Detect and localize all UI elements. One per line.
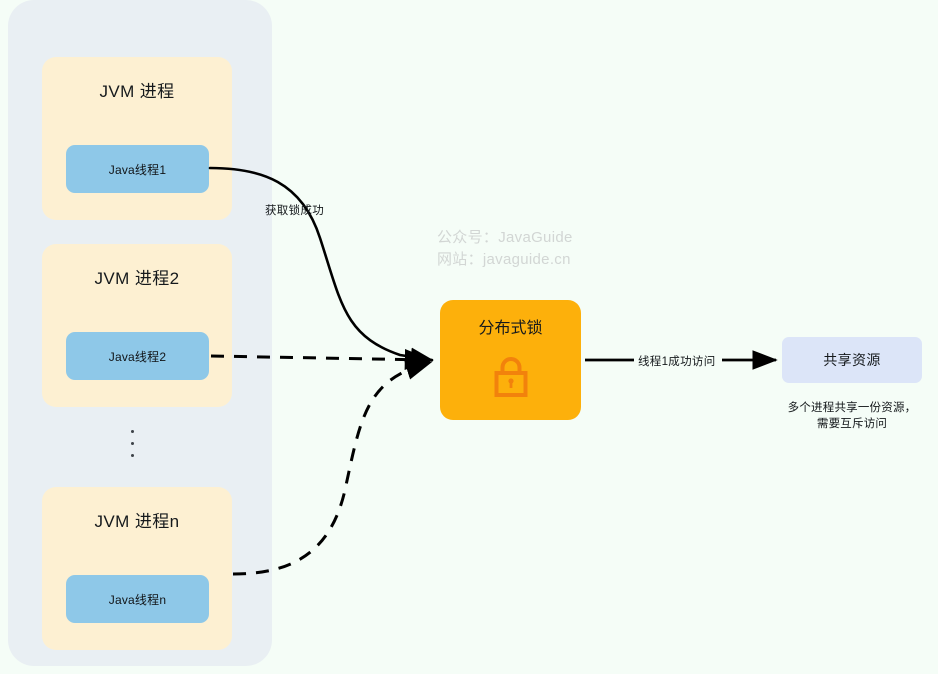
lock-icon bbox=[489, 356, 533, 400]
process-card-1[interactable]: JVM 进程 Java线程1 bbox=[42, 57, 232, 220]
thread-label-2: Java线程2 bbox=[109, 348, 166, 365]
thread-box-2[interactable]: Java线程2 bbox=[66, 332, 209, 380]
watermark: 公众号：JavaGuide 网站：javaguide.cn bbox=[437, 227, 573, 271]
watermark-line-1: 公众号：JavaGuide bbox=[437, 227, 573, 249]
ellipsis-indicator bbox=[131, 430, 134, 457]
diagram-canvas: JVM 进程 Java线程1 JVM 进程2 Java线程2 JVM 进程n J… bbox=[0, 0, 938, 674]
process-card-2[interactable]: JVM 进程2 Java线程2 bbox=[42, 244, 232, 407]
thread-box-n[interactable]: Java线程n bbox=[66, 575, 209, 623]
ellipsis-dot bbox=[131, 454, 134, 457]
shared-resource-caption-line-1: 多个进程共享一份资源， bbox=[742, 400, 938, 416]
shared-resource-node[interactable]: 共享资源 bbox=[782, 337, 922, 383]
distributed-lock-label: 分布式锁 bbox=[440, 300, 581, 337]
process-title-n: JVM 进程n bbox=[42, 487, 232, 530]
thread-label-n: Java线程n bbox=[109, 591, 166, 608]
edge-label-access-success: 线程1成功访问 bbox=[635, 353, 719, 369]
watermark-line-2: 网站：javaguide.cn bbox=[437, 249, 573, 271]
thread-box-1[interactable]: Java线程1 bbox=[66, 145, 209, 193]
shared-resource-label: 共享资源 bbox=[823, 350, 881, 370]
shared-resource-caption: 多个进程共享一份资源， 需要互斥访问 bbox=[742, 400, 938, 432]
process-title-2: JVM 进程2 bbox=[42, 244, 232, 287]
distributed-lock-node[interactable]: 分布式锁 bbox=[440, 300, 581, 420]
shared-resource-caption-line-2: 需要互斥访问 bbox=[742, 416, 938, 432]
ellipsis-dot bbox=[131, 430, 134, 433]
process-card-n[interactable]: JVM 进程n Java线程n bbox=[42, 487, 232, 650]
thread-label-1: Java线程1 bbox=[109, 161, 166, 178]
ellipsis-dot bbox=[131, 442, 134, 445]
process-title-1: JVM 进程 bbox=[42, 57, 232, 100]
edge-label-acquire-lock: 获取锁成功 bbox=[265, 202, 324, 218]
